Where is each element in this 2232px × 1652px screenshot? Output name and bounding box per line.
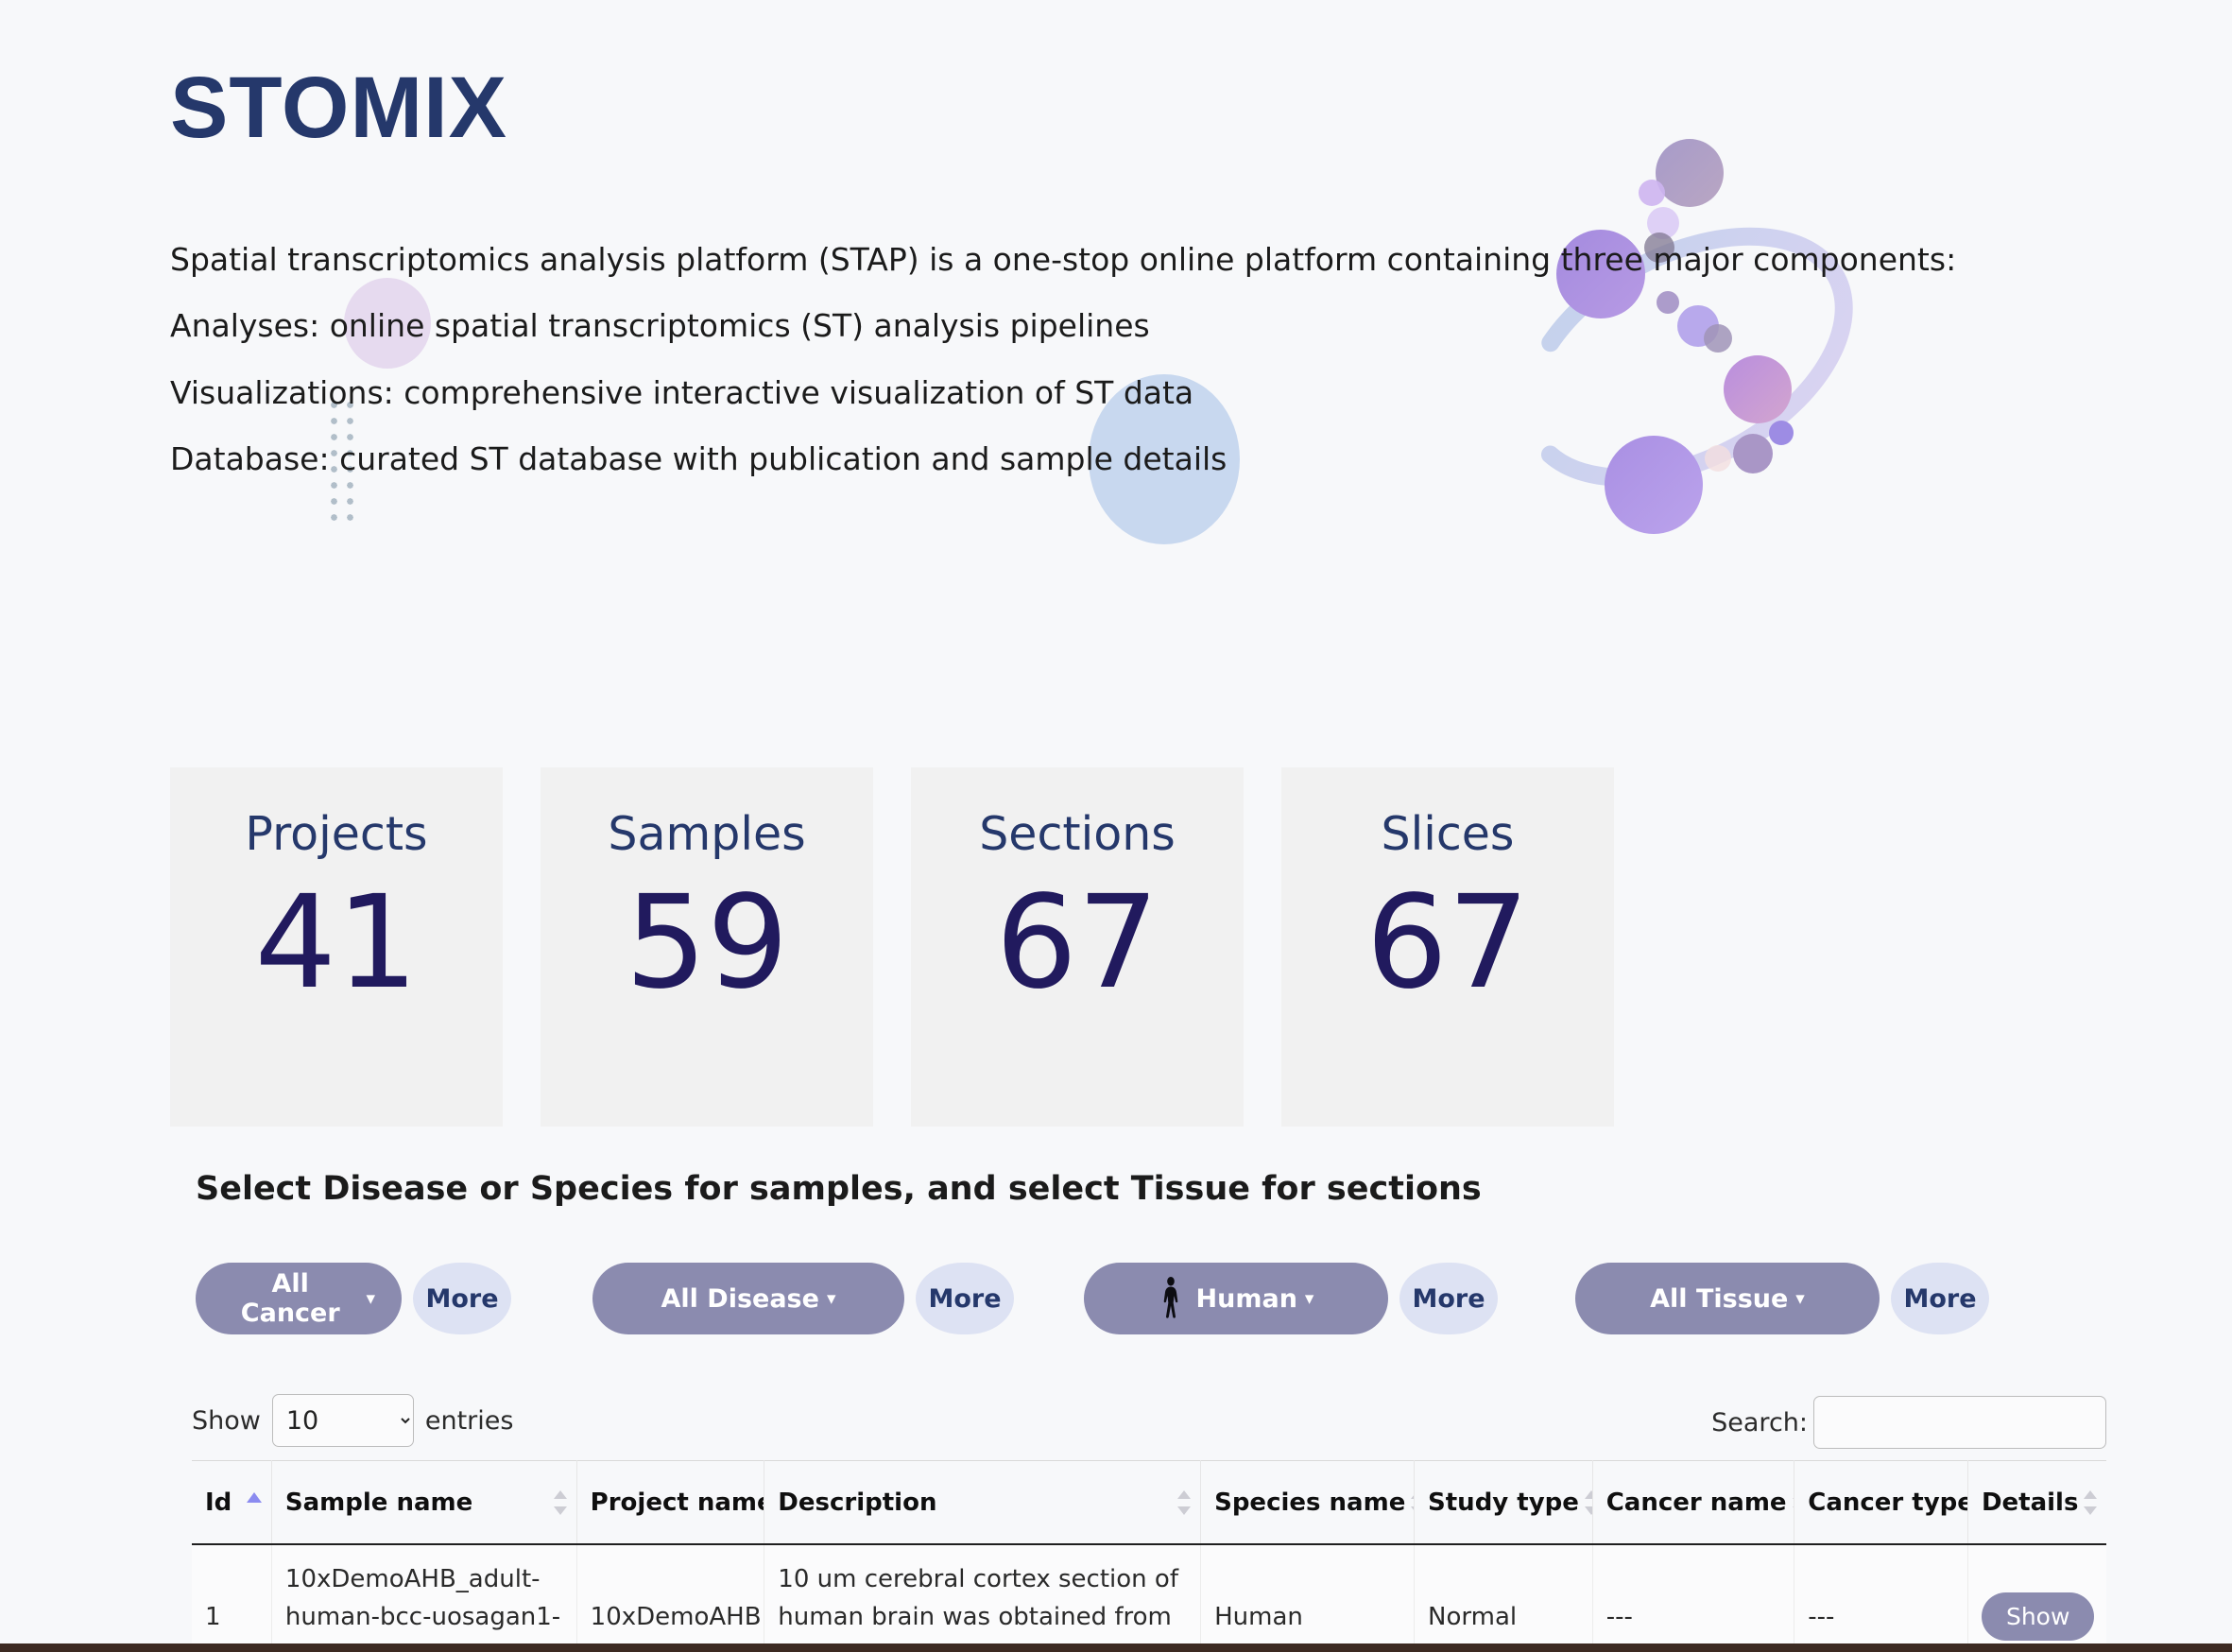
col-header-cancer-type[interactable]: Cancer type [1794, 1461, 1968, 1544]
chevron-down-icon: ▾ [366, 1290, 375, 1308]
col-header-species-name[interactable]: Species name [1201, 1461, 1415, 1544]
select-filters-heading: Select Disease or Species for samples, a… [196, 1170, 1482, 1208]
col-label: Cancer type [1808, 1489, 1967, 1517]
filter-cancer-more-button[interactable]: More [413, 1263, 511, 1334]
col-header-study-type[interactable]: Study type [1415, 1461, 1593, 1544]
sort-toggle-icon [1177, 1489, 1191, 1517]
cell-details: Show [1967, 1544, 2106, 1652]
col-header-sample-name[interactable]: Sample name [271, 1461, 576, 1544]
chevron-down-icon: ▾ [1795, 1290, 1805, 1308]
col-label: Id [205, 1489, 232, 1517]
cell-id: 1 [192, 1544, 271, 1652]
col-header-details[interactable]: Details [1967, 1461, 2106, 1544]
stats-row: Projects 41 Samples 59 Sections 67 Slice… [170, 767, 2109, 1127]
sort-toggle-icon [554, 1489, 567, 1517]
col-header-project-name[interactable]: Project name [576, 1461, 764, 1544]
page-length-select[interactable]: 10 25 50 100 [272, 1394, 414, 1447]
bottom-edge-bar [0, 1643, 2232, 1652]
filter-bar: All Cancer ▾ More All Disease ▾ More Hum… [196, 1263, 2114, 1334]
entries-length-control: Show 10 25 50 100 entries [192, 1394, 513, 1447]
stat-card-slices: Slices 67 [1281, 767, 1614, 1127]
col-label: Cancer name [1606, 1489, 1787, 1517]
filter-group-disease: All Disease ▾ More [592, 1263, 1014, 1334]
stat-card-sections: Sections 67 [911, 767, 1244, 1127]
filter-label: All Cancer [222, 1269, 358, 1328]
cell-sample-name: 10xDemoAHB_adult-human-bcc-uosagan1-stan… [271, 1544, 576, 1652]
col-header-cancer-name[interactable]: Cancer name [1592, 1461, 1794, 1544]
stat-card-projects: Projects 41 [170, 767, 503, 1127]
filter-disease-more-button[interactable]: More [916, 1263, 1014, 1334]
page-root: STOMIX Spatial transcriptomics analysis … [0, 0, 2232, 1652]
cell-description: 10 um cerebral cortex section of human b… [764, 1544, 1201, 1652]
samples-table-wrapper: Id Sample name Project name [192, 1460, 2106, 1652]
intro-paragraphs: Spatial transcriptomics analysis platfor… [170, 241, 2117, 507]
sort-ascending-icon [247, 1492, 262, 1503]
show-label: Show [192, 1406, 261, 1436]
col-header-description[interactable]: Description [764, 1461, 1201, 1544]
filter-tissue-more-button[interactable]: More [1891, 1263, 1989, 1334]
cell-cancer-type: --- [1794, 1544, 1968, 1652]
human-silhouette-icon [1159, 1277, 1183, 1320]
search-label: Search: [1711, 1408, 1808, 1437]
stat-value: 67 [1365, 876, 1529, 1011]
col-label: Sample name [285, 1489, 472, 1517]
col-label: Project name [591, 1489, 764, 1517]
filter-all-cancer-dropdown[interactable]: All Cancer ▾ [196, 1263, 402, 1334]
filter-group-tissue: All Tissue ▾ More [1575, 1263, 1989, 1334]
filter-group-cancer: All Cancer ▾ More [196, 1263, 511, 1334]
intro-line-4: Database: curated ST database with publi… [170, 440, 2117, 478]
entries-label: entries [425, 1406, 514, 1436]
table-row[interactable]: 1 10xDemoAHB_adult-human-bcc-uosagan1-st… [192, 1544, 2106, 1652]
filter-label: All Disease [661, 1284, 818, 1314]
col-label: Description [778, 1489, 936, 1517]
stat-title: Sections [979, 811, 1176, 857]
chevron-down-icon: ▾ [1305, 1290, 1314, 1308]
stat-title: Slices [1382, 811, 1515, 857]
stat-value: 67 [995, 876, 1159, 1011]
intro-line-2: Analyses: online spatial transcriptomics… [170, 307, 2117, 345]
filter-group-species: Human ▾ More [1084, 1263, 1498, 1334]
col-label: Species name [1214, 1489, 1405, 1517]
col-label: Study type [1428, 1489, 1579, 1517]
show-details-button[interactable]: Show [1982, 1592, 2094, 1641]
samples-table: Id Sample name Project name [192, 1460, 2106, 1652]
col-label: Details [1982, 1489, 2079, 1517]
cell-project-name: 10xDemoAHB [576, 1544, 764, 1652]
stat-value: 41 [254, 876, 418, 1011]
stat-card-samples: Samples 59 [541, 767, 873, 1127]
filter-species-human-dropdown[interactable]: Human ▾ [1084, 1263, 1388, 1334]
stat-value: 59 [625, 876, 788, 1011]
cell-study-type: Normal [1415, 1544, 1593, 1652]
filter-all-tissue-dropdown[interactable]: All Tissue ▾ [1575, 1263, 1880, 1334]
cell-cancer-name: --- [1592, 1544, 1794, 1652]
table-search-control: Search: [1711, 1396, 2106, 1449]
search-input[interactable] [1813, 1396, 2106, 1449]
chevron-down-icon: ▾ [827, 1290, 836, 1308]
filter-label: Human [1196, 1284, 1297, 1314]
filter-species-more-button[interactable]: More [1399, 1263, 1498, 1334]
filter-label: All Tissue [1650, 1284, 1788, 1314]
col-header-id[interactable]: Id [192, 1461, 271, 1544]
stat-title: Samples [608, 811, 805, 857]
stat-title: Projects [245, 811, 427, 857]
sort-toggle-icon [2084, 1489, 2097, 1517]
filter-all-disease-dropdown[interactable]: All Disease ▾ [592, 1263, 904, 1334]
intro-line-3: Visualizations: comprehensive interactiv… [170, 374, 2117, 412]
sort-toggle-icon [1585, 1489, 1592, 1517]
table-header-row: Id Sample name Project name [192, 1461, 2106, 1544]
cell-species-name: Human [1201, 1544, 1415, 1652]
intro-line-1: Spatial transcriptomics analysis platfor… [170, 241, 2117, 279]
page-title: STOMIX [170, 64, 507, 151]
